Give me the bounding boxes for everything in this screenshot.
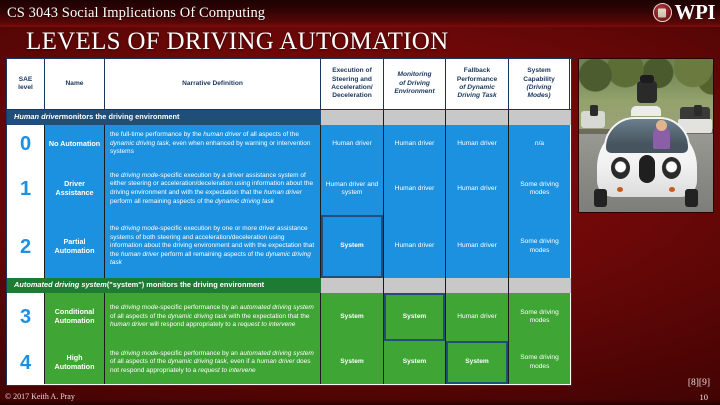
cell-sae-level: 0 <box>7 125 45 163</box>
section-band-green: Automated driving system ("system") moni… <box>7 278 571 293</box>
col-sae-line1: SAE <box>19 76 33 83</box>
column-header-system-capability: System Capability (Driving Modes) <box>509 59 570 109</box>
cell-fallback: Human driver <box>446 163 509 215</box>
cell-name: Partial Automation <box>45 215 105 278</box>
wpi-logo: WPI <box>653 2 716 23</box>
cell-system-capability: Some driving modes <box>509 163 570 215</box>
table-row: 2Partial Automationthe driving mode-spec… <box>7 215 571 278</box>
col-fall-l1: Fallback <box>464 67 490 74</box>
photo-mirror-right <box>694 105 702 116</box>
photo-headlight-right <box>662 157 681 179</box>
section-band-label: Human driver monitors the driving enviro… <box>7 110 321 125</box>
photo-blinker-right <box>669 187 675 192</box>
col-fall-l2: Performance <box>457 76 497 83</box>
slide-canvas: CS 3043 Social Implications Of Computing… <box>0 0 720 405</box>
section-band-filler-cell <box>384 278 446 293</box>
cell-name: Driver Assistance <box>45 163 105 215</box>
table-row: 0No Automationthe full-time performance … <box>7 125 571 163</box>
photo-mirror-left <box>590 105 598 116</box>
wpi-seal-icon <box>653 3 672 22</box>
column-header-monitoring: Monitoring of Driving Environment <box>384 59 446 109</box>
column-header-fallback: Fallback Performance of Dynamic Driving … <box>446 59 509 109</box>
cell-sae-level: 4 <box>7 341 45 384</box>
cell-narrative-definition: the driving mode-specific performance by… <box>105 293 321 341</box>
section-band-filler <box>321 110 571 125</box>
cell-narrative-definition: the full-time performance by the human d… <box>105 125 321 163</box>
wpi-logo-text: WPI <box>675 2 716 23</box>
column-header-name: Name <box>45 59 105 109</box>
cell-monitoring: Human driver <box>384 215 446 278</box>
section-band-filler-cell <box>321 278 384 293</box>
photo-headlight-left <box>611 157 630 179</box>
cell-fallback: Human driver <box>446 293 509 341</box>
cell-monitoring: System <box>384 293 446 341</box>
slide-page-number: 10 <box>700 392 709 402</box>
cell-execution: System <box>321 293 384 341</box>
col-cap-l2: Capability <box>523 76 555 83</box>
driving-automation-levels-table: SAE level Name Narrative Definition Exec… <box>6 58 572 386</box>
cell-monitoring: System <box>384 341 446 384</box>
section-band-label: Automated driving system ("system") moni… <box>7 278 321 293</box>
page-title: LEVELS OF DRIVING AUTOMATION <box>26 27 449 57</box>
cell-execution: System <box>321 215 384 278</box>
col-fall-l4: Driving Task <box>457 92 496 99</box>
col-mon-l3: Environment <box>394 88 434 95</box>
section-band-filler-cell <box>446 110 509 125</box>
course-title: CS 3043 Social Implications Of Computing <box>7 5 265 22</box>
col-cap-l1: System <box>527 67 550 74</box>
cell-fallback: System <box>446 341 509 384</box>
cell-system-capability: n/a <box>509 125 570 163</box>
table-row: 3Conditional Automationthe driving mode-… <box>7 293 571 341</box>
col-cap-l4: Modes) <box>527 92 550 99</box>
section-band-filler-cell <box>321 110 384 125</box>
cell-sae-level: 2 <box>7 215 45 278</box>
photo-roof <box>631 106 661 116</box>
table-body: Human driver monitors the driving enviro… <box>7 110 571 384</box>
cell-sae-level: 3 <box>7 293 45 341</box>
column-header-narrative-definition: Narrative Definition <box>105 59 321 109</box>
table-row: 4High Automationthe driving mode-specifi… <box>7 341 571 384</box>
col-fall-l3: of Dynamic <box>459 84 495 91</box>
table-row: 1Driver Assistancethe driving mode-speci… <box>7 163 571 215</box>
col-mon-l2: of Driving <box>399 80 430 87</box>
cell-narrative-definition: the driving mode-specific performance by… <box>105 341 321 384</box>
cell-system-capability: Some driving modes <box>509 215 570 278</box>
cell-system-capability: Some driving modes <box>509 293 570 341</box>
col-sae-line2: level <box>18 84 33 91</box>
citation-reference: [8][9] <box>688 378 710 388</box>
copyright-notice: © 2017 Keith A. Pray <box>5 392 75 401</box>
col-exec-l4: Deceleration <box>332 92 372 99</box>
photo-passenger <box>653 127 670 149</box>
cell-fallback: Human driver <box>446 215 509 278</box>
cell-fallback: Human driver <box>446 125 509 163</box>
photo-blinker-left <box>617 187 623 192</box>
cell-execution: Human driver <box>321 125 384 163</box>
cell-execution: Human driver and system <box>321 163 384 215</box>
cell-execution: System <box>321 341 384 384</box>
column-header-sae-level: SAE level <box>7 59 45 109</box>
section-band-filler-cell <box>509 278 570 293</box>
col-cap-l3: (Driving <box>527 84 552 91</box>
cell-name: No Automation <box>45 125 105 163</box>
section-band-filler-cell <box>384 110 446 125</box>
col-mon-l1: Monitoring <box>397 71 431 78</box>
section-band-filler-cell <box>509 110 570 125</box>
photo-lidar-sensor <box>637 81 657 103</box>
cell-name: Conditional Automation <box>45 293 105 341</box>
photo-windshield <box>604 117 690 155</box>
photo-wheel-left <box>594 189 607 207</box>
self-driving-car-photo <box>578 58 714 213</box>
cell-monitoring: Human driver <box>384 163 446 215</box>
photo-wheel-right <box>685 189 698 207</box>
section-band-filler <box>321 278 571 293</box>
cell-narrative-definition: the driving mode-specific execution by a… <box>105 163 321 215</box>
section-band-filler-cell <box>446 278 509 293</box>
cell-monitoring: Human driver <box>384 125 446 163</box>
col-exec-l3: Acceleration/ <box>331 84 372 91</box>
column-header-execution: Execution of Steering and Acceleration/ … <box>321 59 384 109</box>
section-band-blue: Human driver monitors the driving enviro… <box>7 110 571 125</box>
top-title-bar: CS 3043 Social Implications Of Computing… <box>0 0 720 27</box>
cell-system-capability: Some driving modes <box>509 341 570 384</box>
table-header-row: SAE level Name Narrative Definition Exec… <box>7 59 571 110</box>
cell-narrative-definition: the driving mode-specific execution by o… <box>105 215 321 278</box>
cell-sae-level: 1 <box>7 163 45 215</box>
col-exec-l2: Steering and <box>332 76 372 83</box>
cell-name: High Automation <box>45 341 105 384</box>
col-exec-l1: Execution of <box>332 67 372 74</box>
photo-front-sensor <box>639 155 655 183</box>
